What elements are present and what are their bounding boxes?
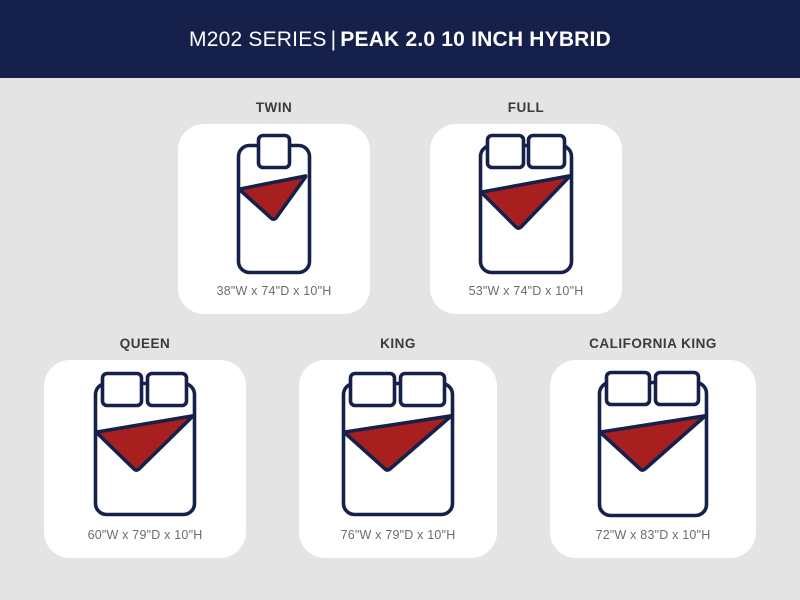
bed-illustration-queen <box>44 360 246 529</box>
size-card-full[interactable]: 53"W x 74"D x 10"H <box>430 124 622 314</box>
size-card-california-king[interactable]: 72"W x 83"D x 10"H <box>550 360 756 558</box>
size-cell-california-king[interactable]: CALIFORNIA KING 72"W x 83"D x 10"H <box>550 336 756 558</box>
bed-illustration-king <box>299 360 497 529</box>
page-title-model: PEAK 2.0 10 INCH HYBRID <box>340 28 611 51</box>
page-title-divider: | <box>327 28 341 51</box>
bed-king-icon <box>340 370 456 518</box>
size-label-california-king: CALIFORNIA KING <box>589 336 717 351</box>
size-cell-twin[interactable]: TWIN 38"W x 74"D x 10"H <box>178 100 370 314</box>
size-cell-king[interactable]: KING 76"W x 79"D x 10"H <box>299 336 497 558</box>
size-row-top: TWIN 38"W x 74"D x 10"H FULL <box>0 100 800 314</box>
bed-illustration-california-king <box>550 360 756 529</box>
size-card-queen[interactable]: 60"W x 79"D x 10"H <box>44 360 246 558</box>
bed-california-king-icon <box>596 369 710 519</box>
size-grid: TWIN 38"W x 74"D x 10"H FULL <box>0 78 800 600</box>
size-dimensions-queen: 60"W x 79"D x 10"H <box>88 529 203 559</box>
bed-illustration-twin <box>178 124 370 285</box>
size-label-twin: TWIN <box>256 100 293 115</box>
size-cell-queen[interactable]: QUEEN 60"W x 79"D x 10"H <box>44 336 246 558</box>
page-title: M202 SERIES|PEAK 2.0 10 INCH HYBRID <box>189 29 611 50</box>
size-card-twin[interactable]: 38"W x 74"D x 10"H <box>178 124 370 314</box>
size-dimensions-king: 76"W x 79"D x 10"H <box>341 529 456 559</box>
size-cell-full[interactable]: FULL 53"W x 74"D x 10"H <box>430 100 622 314</box>
page-header-band: M202 SERIES|PEAK 2.0 10 INCH HYBRID <box>0 0 800 78</box>
bed-illustration-full <box>430 124 622 285</box>
size-dimensions-california-king: 72"W x 83"D x 10"H <box>596 529 711 559</box>
page-title-series: M202 SERIES <box>189 28 327 51</box>
size-label-queen: QUEEN <box>120 336 171 351</box>
bed-full-icon <box>477 132 575 276</box>
size-card-king[interactable]: 76"W x 79"D x 10"H <box>299 360 497 558</box>
size-row-bottom: QUEEN 60"W x 79"D x 10"H KING <box>0 336 800 558</box>
size-dimensions-full: 53"W x 74"D x 10"H <box>469 285 584 315</box>
bed-queen-icon <box>92 370 198 518</box>
size-dimensions-twin: 38"W x 74"D x 10"H <box>217 285 332 315</box>
mattress-size-chart-page: { "header": { "series_label": "M202 SERI… <box>0 0 800 600</box>
size-label-king: KING <box>380 336 416 351</box>
bed-twin-icon <box>235 132 313 276</box>
size-label-full: FULL <box>508 100 545 115</box>
